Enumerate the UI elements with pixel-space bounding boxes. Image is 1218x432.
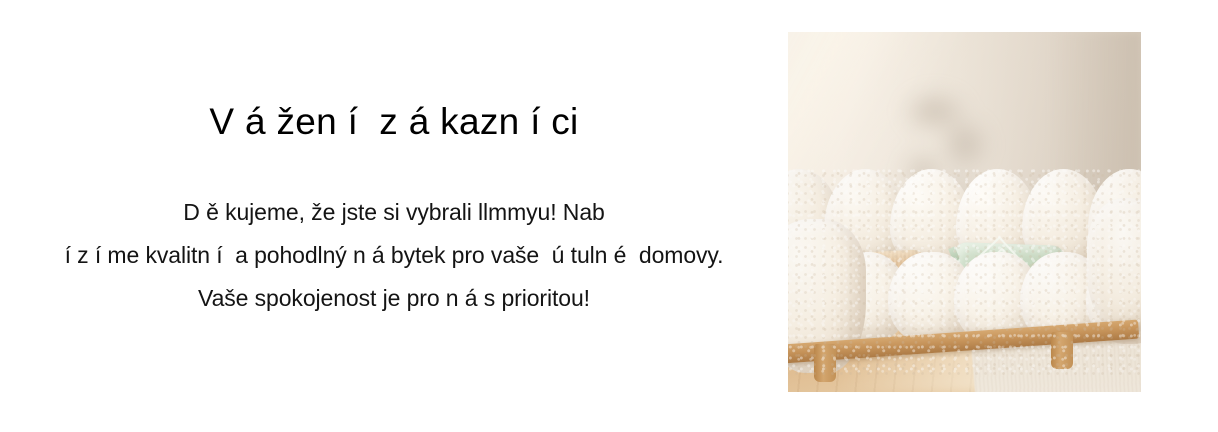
message-line-1: D ě kujeme, že jste si vybrali llmmyu! N… bbox=[0, 191, 788, 234]
wood-leg bbox=[1051, 332, 1073, 370]
wood-leg bbox=[814, 344, 836, 382]
message-line-3: Vaše spokojenost je pro n á s prioritou! bbox=[0, 277, 788, 320]
product-photo bbox=[788, 32, 1141, 392]
message-line-2: í z í me kvalitn í a pohodlný n á bytek … bbox=[0, 234, 788, 277]
message-body: D ě kujeme, že jste si vybrali llmmyu! N… bbox=[0, 191, 788, 320]
page-title: V á žen í z á kazn í ci bbox=[0, 101, 788, 144]
boucle-cloud-sofa bbox=[788, 169, 1141, 378]
sofa-arm-right bbox=[1087, 198, 1141, 332]
message-text-column: V á žen í z á kazn í ci D ě kujeme, že j… bbox=[0, 0, 788, 432]
promo-banner: V á žen í z á kazn í ci D ě kujeme, že j… bbox=[0, 0, 1218, 432]
